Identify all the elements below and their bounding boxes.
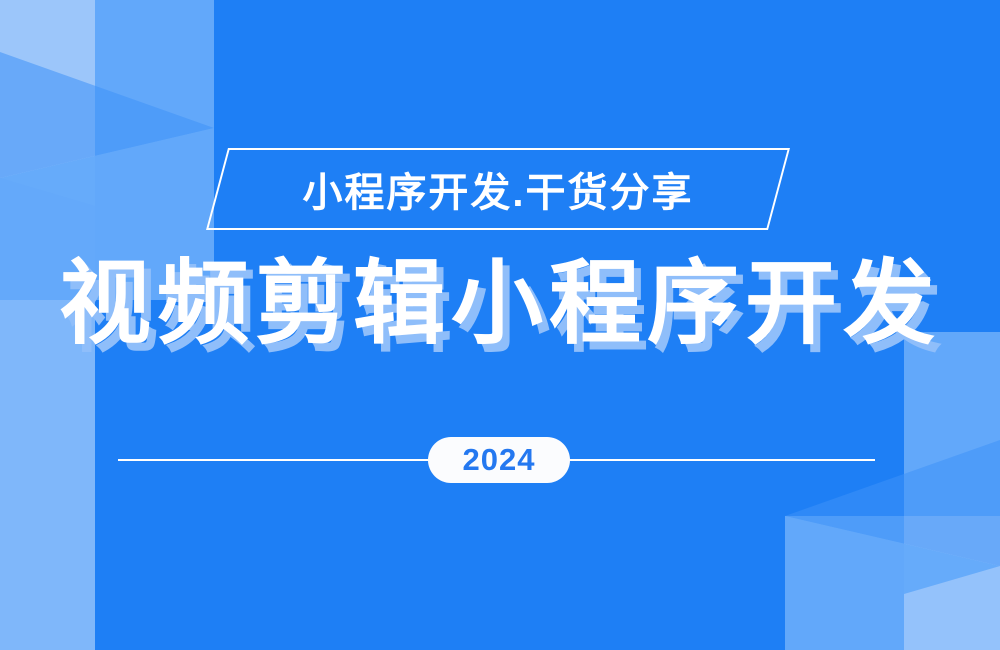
right-light-band-shape [904,332,1000,650]
promo-banner: 小程序开发.干货分享 视频剪辑小程序开发 2024 [0,0,1000,650]
left-upper-triangle-shape [0,52,214,178]
right-lower-triangle-shape [785,516,1000,650]
right-lower-wedge-shape [904,566,1000,650]
left-lower-wedge-shape [0,178,95,650]
right-medium-band-shape [785,516,904,650]
subtitle-banner: 小程序开发.干货分享 [217,148,779,230]
divider-line-left [118,459,430,461]
right-medium-band-upper-shape [904,332,1000,516]
page-title: 视频剪辑小程序开发 [0,253,1000,356]
divider-line-right [568,459,875,461]
year-badge: 2024 [428,437,570,483]
subtitle-text: 小程序开发.干货分享 [217,148,779,230]
